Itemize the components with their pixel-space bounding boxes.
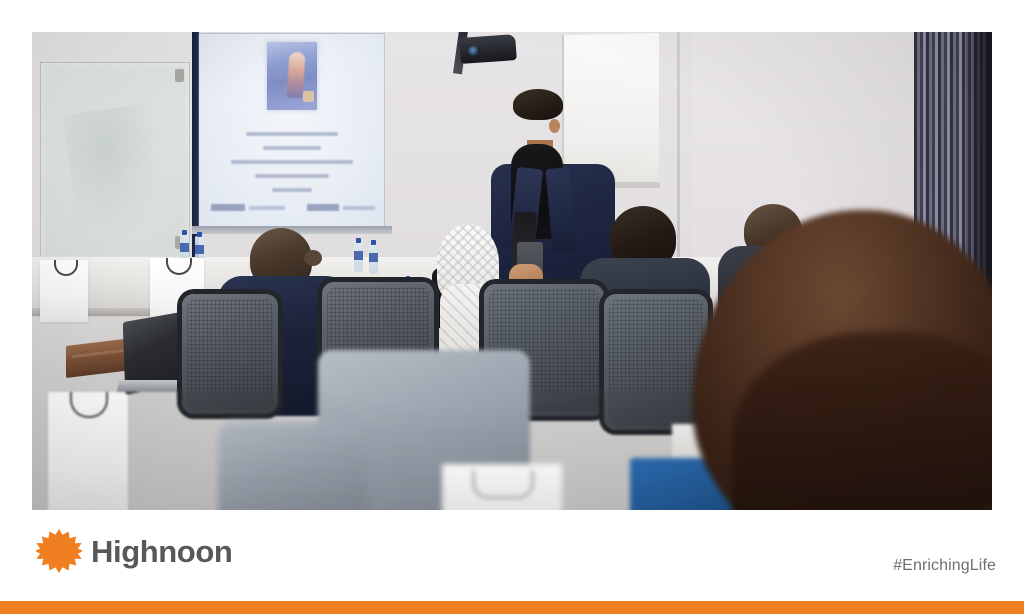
chair-mesh-back <box>187 299 273 409</box>
foreground-chair <box>218 422 368 510</box>
slide-badge <box>303 91 314 102</box>
glass-clip-top-right <box>175 69 184 82</box>
brand-name: Highnoon <box>91 536 232 567</box>
tagline: #EnrichingLife <box>893 557 996 575</box>
presenter-ear <box>549 119 560 133</box>
bottom-accent-bar <box>0 601 1024 614</box>
slide-text-line-3 <box>231 160 353 164</box>
office-chair <box>182 294 278 414</box>
water-bottle <box>354 242 363 272</box>
wall-divider <box>677 32 680 262</box>
water-bottle <box>369 244 378 274</box>
foreground-gift-bag-handle <box>472 470 534 499</box>
chair-mesh-back <box>609 299 703 425</box>
presenter-hair <box>513 89 563 120</box>
slide-text-line-1 <box>246 132 338 136</box>
slide-logo-left-sub <box>249 206 285 210</box>
slide-logo-right-sub <box>343 206 375 210</box>
event-photo <box>32 32 992 510</box>
slide-text-line-2 <box>263 146 321 150</box>
camera-lens-icon <box>468 46 481 57</box>
projector-screen <box>199 34 384 226</box>
slide-footer: Highnoon #EnrichingLife <box>0 510 1024 601</box>
camera-icon <box>459 34 517 64</box>
glass-whiteboard <box>40 62 190 260</box>
brand-lockup: Highnoon <box>36 528 232 574</box>
slide-logo-right <box>307 204 339 211</box>
slide-logo-left <box>211 204 245 211</box>
slide-text-line-5 <box>272 188 312 192</box>
slide-root: Highnoon #EnrichingLife <box>0 0 1024 614</box>
glass-reflection <box>62 102 175 244</box>
sunburst-icon <box>36 528 82 574</box>
slide-text-line-4 <box>255 174 329 178</box>
slide-portrait-image <box>267 42 317 110</box>
attendee-ear <box>304 250 322 266</box>
